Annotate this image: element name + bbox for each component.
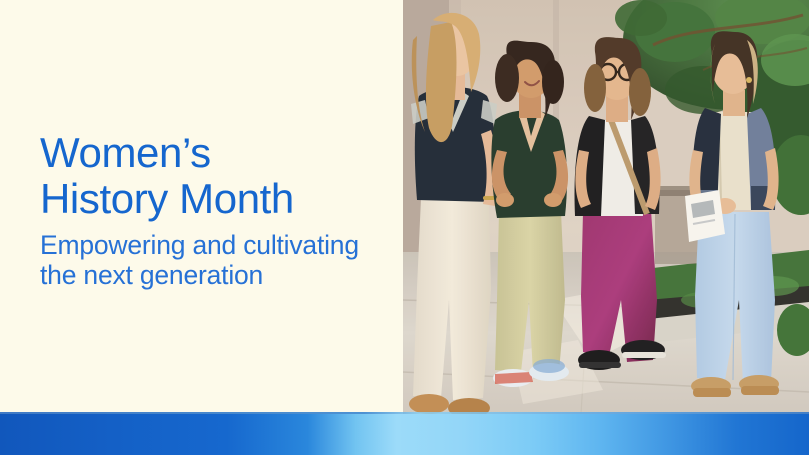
hero-photo <box>403 0 809 414</box>
text-panel: Women’s History Month Empowering and cul… <box>0 0 403 414</box>
subtitle-line-1: Empowering and cultivating <box>40 230 385 260</box>
page-subtitle: Empowering and cultivating the next gene… <box>40 230 385 290</box>
hero-photo-illustration <box>403 0 809 414</box>
page-title: Women’s History Month <box>40 130 380 222</box>
subtitle-line-2: the next generation <box>40 260 385 290</box>
brand-gradient-bar <box>0 414 809 455</box>
headline-line-1: Women’s <box>40 130 380 176</box>
headline-line-2: History Month <box>40 176 380 222</box>
promo-banner: Women’s History Month Empowering and cul… <box>0 0 809 455</box>
